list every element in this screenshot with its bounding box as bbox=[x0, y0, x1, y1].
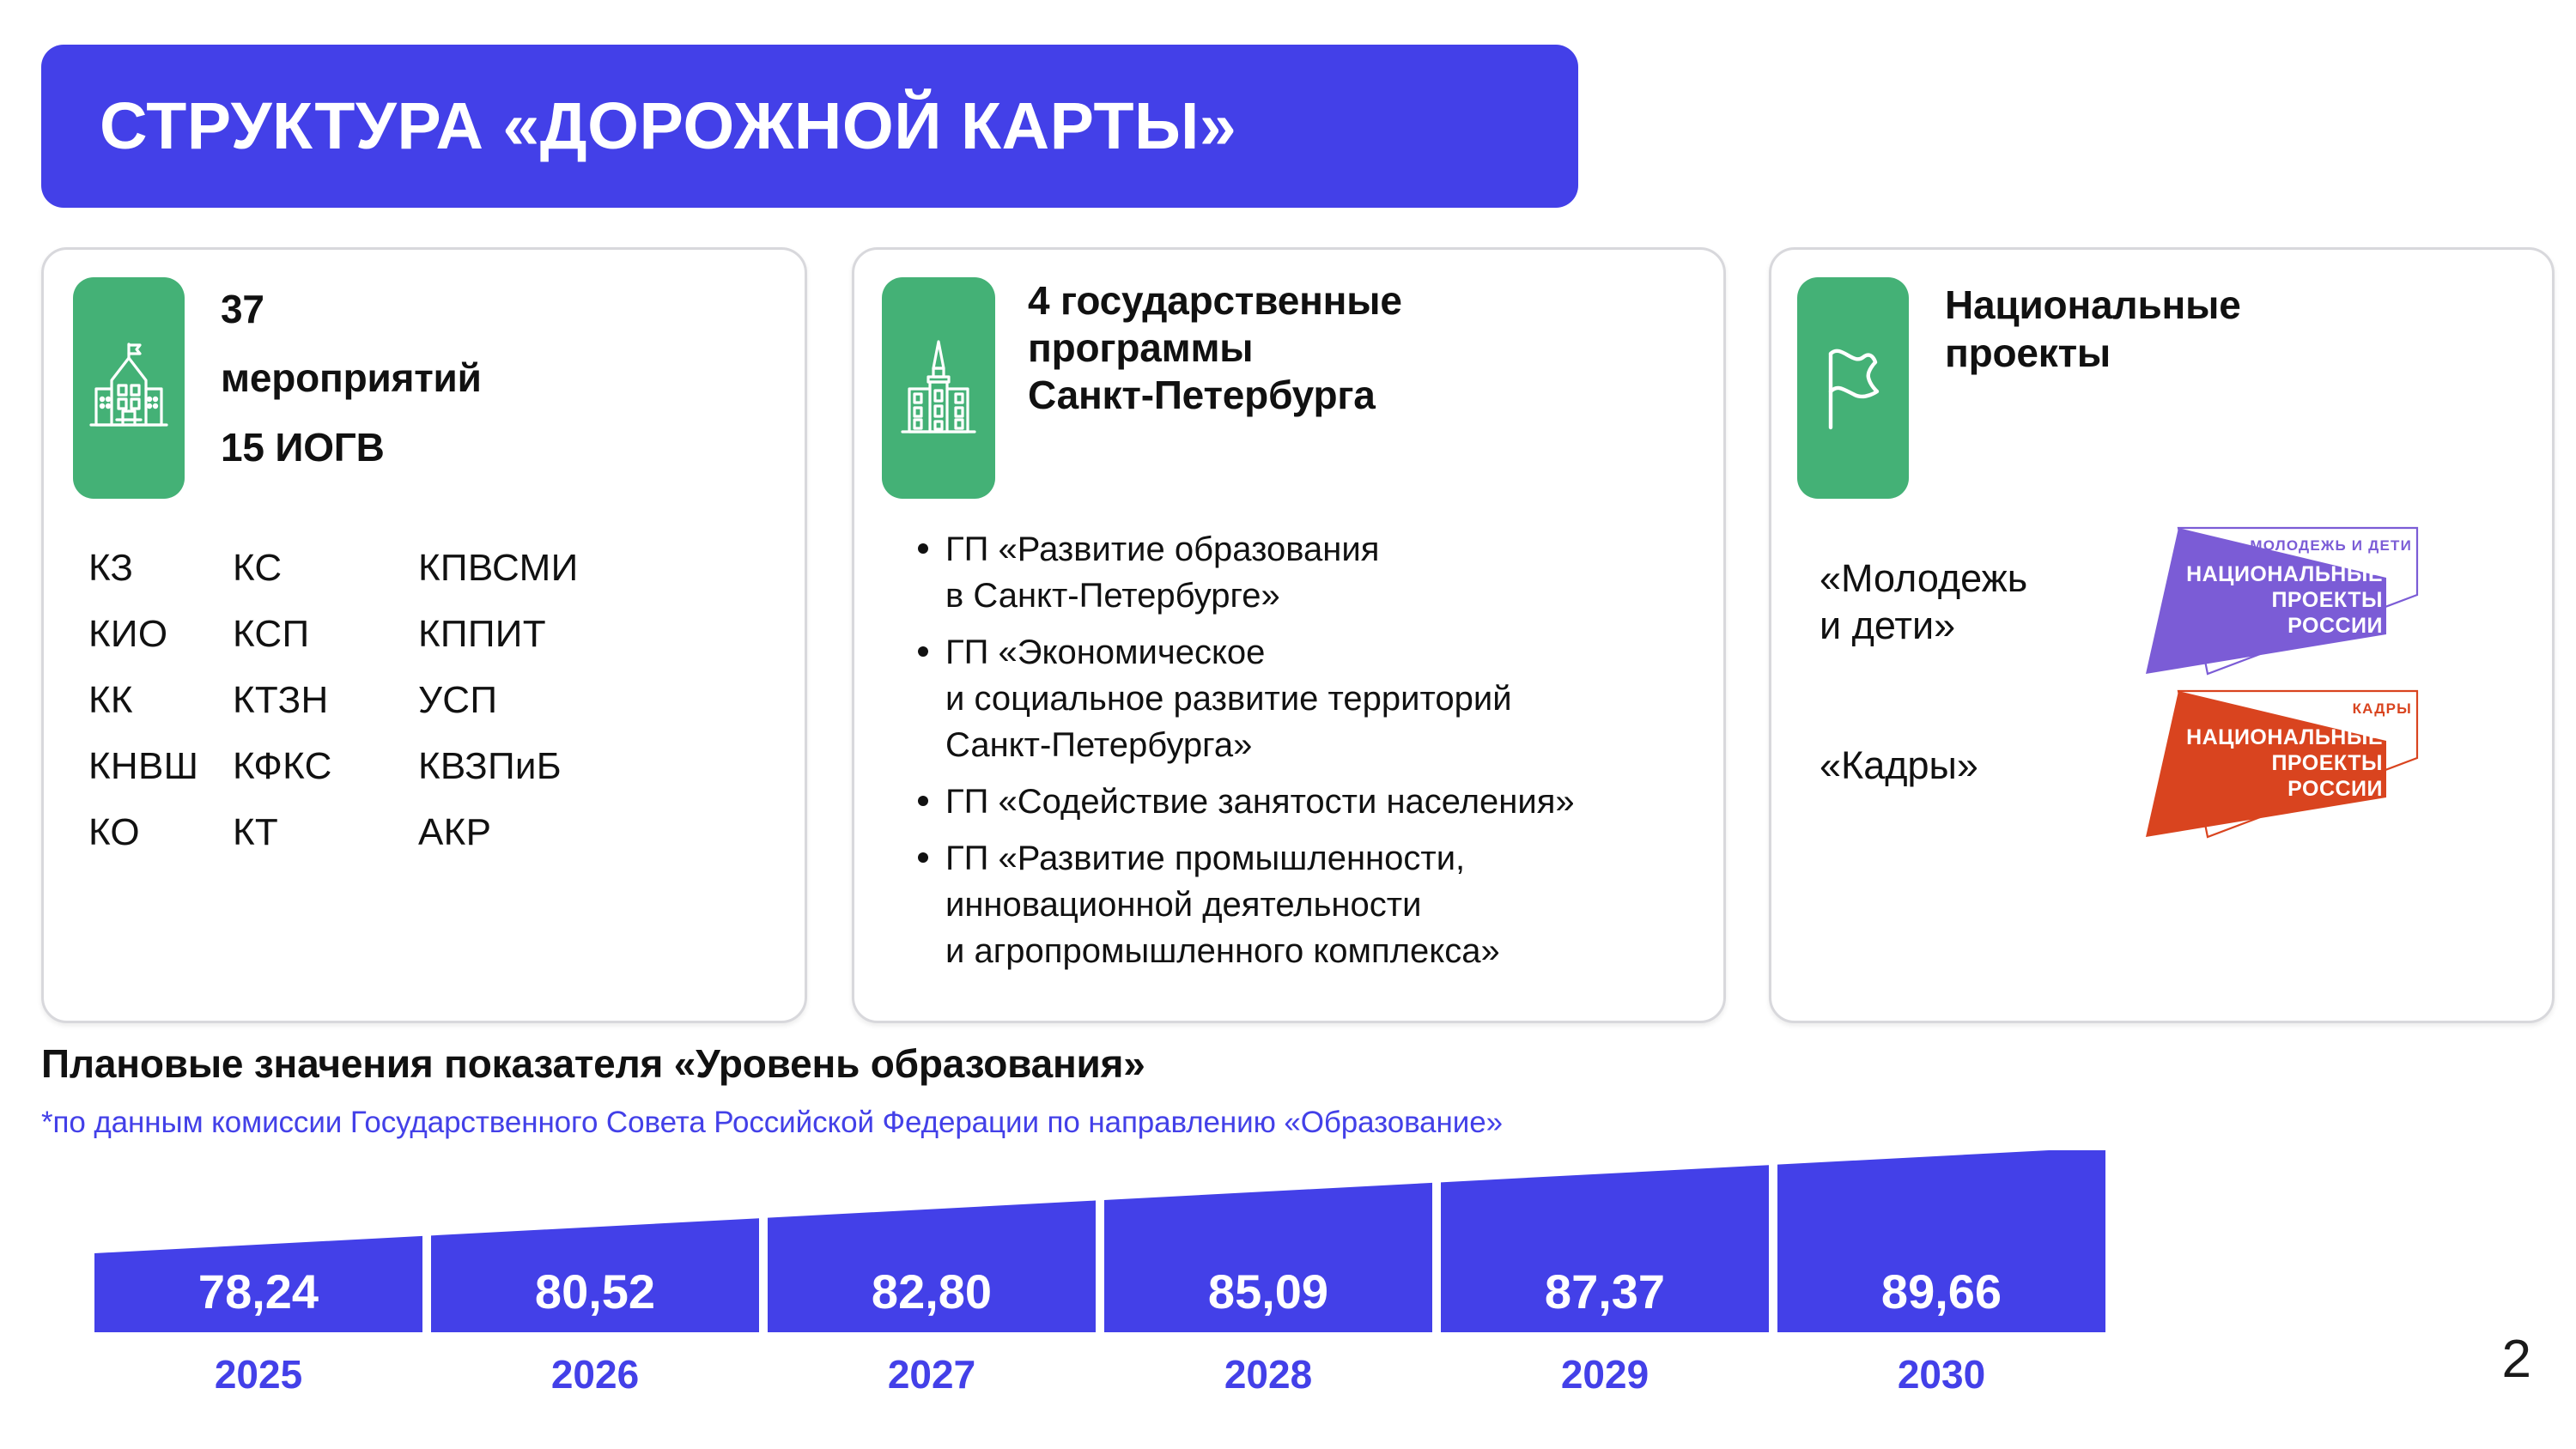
card1-heading-line-2: мероприятий bbox=[221, 355, 482, 401]
logo-line-1: НАЦИОНАЛЬНЫЕ bbox=[2186, 562, 2383, 586]
abbr-item: КПВСМИ bbox=[418, 547, 775, 590]
card1-heading-line-3: 15 ИОГВ bbox=[221, 424, 482, 470]
page-title: СТРУКТУРА «ДОРОЖНОЙ КАРТЫ» bbox=[41, 88, 1236, 165]
chart-section-title: Плановые значения показателя «Уровень об… bbox=[41, 1040, 1145, 1087]
national-project-row: «Молодежь и дети» МОЛОДЕЖЬ И ДЕТИ НАЦИОН… bbox=[1820, 521, 2531, 684]
school-building-icon bbox=[73, 277, 185, 499]
abbr-item: КНВШ bbox=[88, 745, 233, 788]
card-national-projects: Национальные проекты «Молодежь и дети» М… bbox=[1769, 247, 2555, 1023]
card1-heading: 37 мероприятий 15 ИОГВ bbox=[221, 286, 482, 470]
card3-heading-line-2: проекты bbox=[1945, 329, 2241, 377]
logo-line-2: ПРОЕКТЫ bbox=[2271, 588, 2383, 612]
logo-kicker: КАДРЫ bbox=[2353, 700, 2412, 717]
card2-header: 4 государственные программы Санкт-Петерб… bbox=[882, 277, 1402, 499]
card3-heading-line-1: Национальные bbox=[1945, 281, 2241, 329]
national-project-label: «Кадры» bbox=[1820, 743, 2103, 790]
abbr-item: КЗ bbox=[88, 547, 233, 590]
card3-header: Национальные проекты bbox=[1797, 277, 2241, 499]
national-project-label: «Молодежь и дети» bbox=[1820, 555, 2103, 650]
iogv-abbreviation-grid: КЗ КС КПВСМИ КИО КСП КППИТ КК КТЗН УСП К… bbox=[88, 547, 775, 854]
slide-title-banner: СТРУКТУРА «ДОРОЖНОЙ КАРТЫ» bbox=[41, 45, 1578, 208]
slide-root: СТРУКТУРА «ДОРОЖНОЙ КАРТЫ» bbox=[0, 0, 2576, 1449]
abbr-item: КС bbox=[233, 547, 418, 590]
bar-year-label: 2027 bbox=[768, 1351, 1096, 1397]
bar-value-label: 82,80 bbox=[768, 1264, 1096, 1319]
chart-section-note: *по данным комиссии Государственного Сов… bbox=[41, 1106, 1503, 1140]
card2-heading-line-2: программы bbox=[1028, 324, 1402, 372]
card2-heading: 4 государственные программы Санкт-Петерб… bbox=[1028, 277, 1402, 420]
abbr-item: КСП bbox=[233, 613, 418, 656]
card-state-programs: 4 государственные программы Санкт-Петерб… bbox=[852, 247, 1726, 1023]
government-building-icon bbox=[882, 277, 995, 499]
abbr-item: КФКС bbox=[233, 745, 418, 788]
bar-value-label: 85,09 bbox=[1104, 1264, 1432, 1319]
program-label: ГП «Экономическое и социальное развитие … bbox=[945, 634, 1512, 764]
bar-value-label: 87,37 bbox=[1441, 1264, 1769, 1319]
bar-year-label: 2028 bbox=[1104, 1351, 1432, 1397]
national-projects-rows: «Молодежь и дети» МОЛОДЕЖЬ И ДЕТИ НАЦИОН… bbox=[1820, 521, 2531, 847]
logo-line-3: РОССИИ bbox=[2287, 614, 2383, 638]
bar-value-label: 89,66 bbox=[1777, 1264, 2105, 1319]
card1-heading-line-1: 37 bbox=[221, 286, 482, 332]
bar-year-label: 2030 bbox=[1777, 1351, 2105, 1397]
program-label: ГП «Содействие занятости населения» bbox=[945, 783, 1575, 821]
list-item: ГП «Экономическое и социальное развитие … bbox=[945, 629, 1694, 768]
abbr-item: КО bbox=[88, 811, 233, 854]
list-item: ГП «Содействие занятости населения» bbox=[945, 779, 1694, 825]
abbr-item: КК bbox=[88, 679, 233, 722]
card2-heading-line-1: 4 государственные bbox=[1028, 277, 1402, 324]
logo-line-1: НАЦИОНАЛЬНЫЕ bbox=[2186, 725, 2383, 749]
page-number: 2 bbox=[2502, 1329, 2531, 1390]
national-project-row: «Кадры» КАДРЫ НАЦИОНАЛЬНЫЕ ПРОЕКТЫ РОССИ… bbox=[1820, 684, 2531, 847]
logo-kicker: МОЛОДЕЖЬ И ДЕТИ bbox=[2250, 537, 2412, 554]
abbr-item: КИО bbox=[88, 613, 233, 656]
card-events-iogv: 37 мероприятий 15 ИОГВ КЗ КС КПВСМИ КИО … bbox=[41, 247, 807, 1023]
nацпроекты-logo-personnel: КАДРЫ НАЦИОНАЛЬНЫЕ ПРОЕКТЫ РОССИИ bbox=[2129, 684, 2421, 848]
flag-icon bbox=[1797, 277, 1909, 499]
bar-year-label: 2025 bbox=[94, 1351, 422, 1397]
logo-line-3: РОССИИ bbox=[2287, 777, 2383, 801]
card1-header: 37 мероприятий 15 ИОГВ bbox=[73, 277, 482, 499]
list-item: ГП «Развитие промышленности, инновационн… bbox=[945, 835, 1694, 974]
abbr-item: КТЗН bbox=[233, 679, 418, 722]
bar-value-label: 78,24 bbox=[94, 1264, 422, 1319]
program-label: ГП «Развитие образования в Санкт-Петербу… bbox=[945, 530, 1379, 615]
bar-value-label: 80,52 bbox=[431, 1264, 759, 1319]
state-programs-list: ГП «Развитие образования в Санкт-Петербу… bbox=[906, 526, 1694, 985]
education-level-bar-chart: 78,24202580,52202682,80202785,09202887,3… bbox=[0, 1150, 2576, 1449]
abbr-item: АКР bbox=[418, 811, 775, 854]
abbr-item: КППИТ bbox=[418, 613, 775, 656]
abbr-item: УСП bbox=[418, 679, 775, 722]
program-label: ГП «Развитие промышленности, инновационн… bbox=[945, 840, 1500, 970]
card2-heading-line-3: Санкт-Петербурга bbox=[1028, 372, 1402, 419]
abbr-item: КТ bbox=[233, 811, 418, 854]
list-item: ГП «Развитие образования в Санкт-Петербу… bbox=[945, 526, 1694, 619]
bar-year-label: 2029 bbox=[1441, 1351, 1769, 1397]
nацпроекты-logo-youth: МОЛОДЕЖЬ И ДЕТИ НАЦИОНАЛЬНЫЕ ПРОЕКТЫ РОС… bbox=[2129, 521, 2421, 685]
card-row: 37 мероприятий 15 ИОГВ КЗ КС КПВСМИ КИО … bbox=[0, 247, 2576, 1023]
logo-line-2: ПРОЕКТЫ bbox=[2271, 751, 2383, 775]
abbr-item: КВЗПиБ bbox=[418, 745, 775, 788]
bar-year-label: 2026 bbox=[431, 1351, 759, 1397]
card3-heading: Национальные проекты bbox=[1945, 281, 2241, 377]
